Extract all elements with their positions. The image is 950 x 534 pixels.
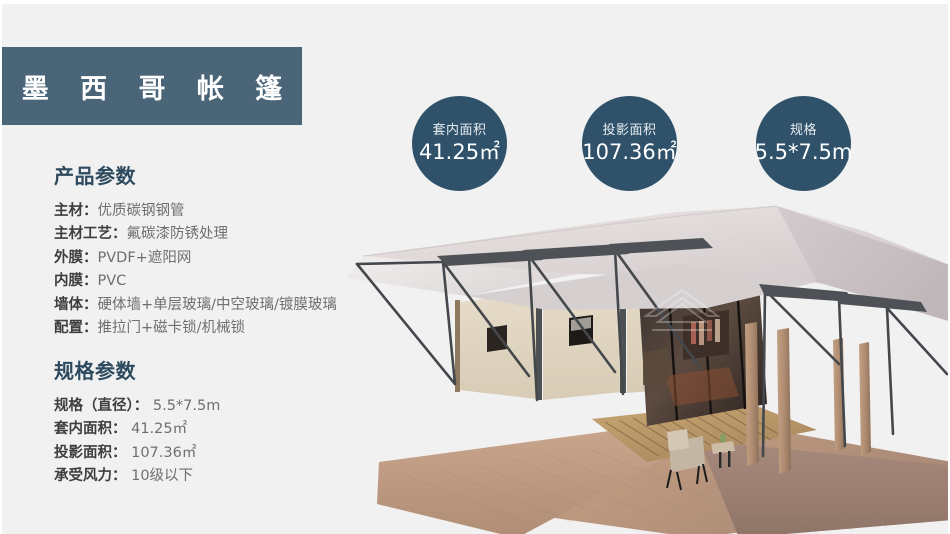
param-label: 套内面积： [54,421,127,437]
page-title: 墨 西 哥 帐 篷 [11,67,294,106]
slide-root: 墨 西 哥 帐 篷 产品参数 主材：优质碳钢钢管 主材工艺：氟碳漆防锈处理 外膜… [0,0,950,534]
badge-label: 套内面积 [432,124,486,138]
title-banner: 墨 西 哥 帐 篷 [2,47,302,125]
param-value: 5.5*7.5m [148,398,220,414]
param-label: 投影面积： [54,445,127,461]
list-item: 套内面积： 41.25㎡ [54,418,384,441]
badge-size: 规格 5.5*7.5m [756,96,851,191]
param-value: 硬体墙+单层玻璃/中空玻璃/镀膜玻璃 [98,297,337,313]
param-label: 主材： [54,203,98,219]
spec-section-heading: 规格参数 [54,361,384,381]
param-label: 主材工艺： [54,226,127,242]
param-value: 推拉门+磁卡锁/机械锁 [98,320,246,336]
product-param-list: 主材：优质碳钢钢管 主材工艺：氟碳漆防锈处理 外膜：PVDF+遮阳网 内膜：PV… [54,200,384,341]
list-item: 投影面积： 107.36㎡ [54,442,384,465]
param-label: 墙体： [54,297,98,313]
param-value: 氟碳漆防锈处理 [127,226,229,242]
param-label: 承受风力： [54,468,127,484]
param-label: 外膜： [54,250,98,266]
badge-value: 5.5*7.5m [755,141,853,163]
list-item: 承受风力： 10级以下 [54,465,384,488]
param-value: 41.25㎡ [127,421,188,437]
badge-value: 41.25㎡ [419,141,500,163]
list-item: 墙体：硬体墙+单层玻璃/中空玻璃/镀膜玻璃 [54,294,384,317]
param-label: 内膜： [54,273,98,289]
list-item: 主材工艺：氟碳漆防锈处理 [54,223,384,246]
tent-illustration [347,204,948,534]
list-item: 配置：推拉门+磁卡锁/机械锁 [54,317,384,340]
badge-label: 投影面积 [602,124,656,138]
param-value: 107.36㎡ [127,445,197,461]
list-item: 内膜：PVC [54,270,384,293]
param-label: 配置： [54,320,98,336]
list-item: 规格（直径）： 5.5*7.5m [54,395,384,418]
specs-column: 产品参数 主材：优质碳钢钢管 主材工艺：氟碳漆防锈处理 外膜：PVDF+遮阳网 … [54,166,384,489]
badge-value: 107.36㎡ [582,141,676,163]
param-label: 规格（直径）： [54,398,148,414]
section-spacer [54,341,384,361]
slide-canvas: 墨 西 哥 帐 篷 产品参数 主材：优质碳钢钢管 主材工艺：氟碳漆防锈处理 外膜… [2,4,948,534]
stat-badges: 套内面积 41.25㎡ 投影面积 107.36㎡ 规格 5.5*7.5m [412,96,892,196]
list-item: 外膜：PVDF+遮阳网 [54,247,384,270]
badge-label: 规格 [790,124,817,138]
param-value: 优质碳钢钢管 [98,203,185,219]
spec-param-list: 规格（直径）： 5.5*7.5m 套内面积： 41.25㎡ 投影面积： 107.… [54,395,384,489]
badge-interior-area: 套内面积 41.25㎡ [412,96,507,191]
param-value: PVDF+遮阳网 [98,250,192,266]
param-value: PVC [98,273,127,289]
badge-projected-area: 投影面积 107.36㎡ [582,96,677,191]
list-item: 主材：优质碳钢钢管 [54,200,384,223]
product-section-heading: 产品参数 [54,166,384,186]
param-value: 10级以下 [127,468,194,484]
